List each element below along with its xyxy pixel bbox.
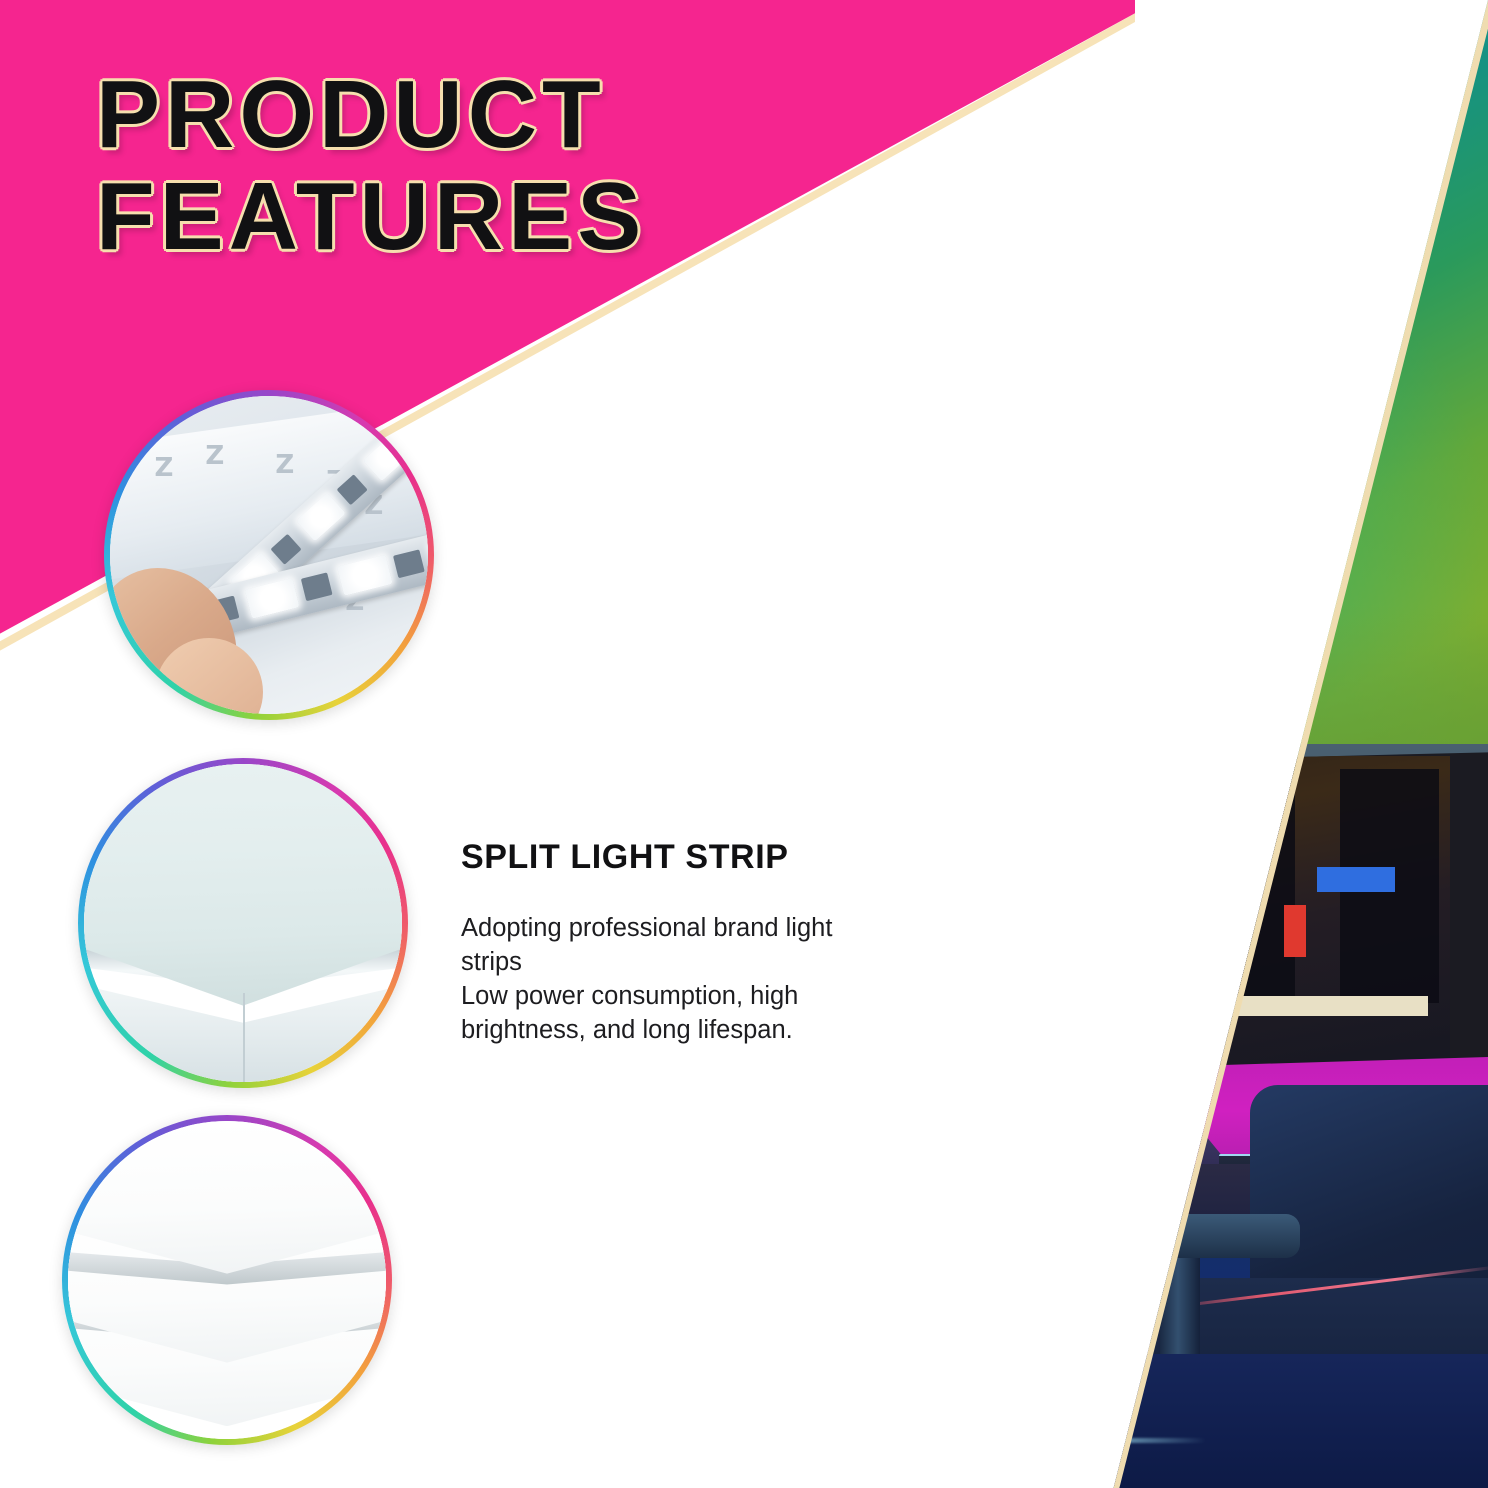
monitor-screen [899, 756, 1449, 1080]
page-title-line-2: FEATURES [96, 166, 856, 268]
led-desk-clock: 12:40 [906, 1095, 996, 1169]
led-infinity-tunnel-light [848, 168, 1307, 646]
feature-text-split-light-strip: SPLIT LIGHT STRIP Adopting professional … [461, 838, 891, 1048]
feature-body-line: Low power consumption, high [461, 979, 891, 1013]
feature-body-line: brightness, and long lifespan. [461, 1013, 891, 1047]
page-title: PRODUCT FEATURES [96, 64, 856, 268]
acrylic-base-plate-photo [62, 1115, 392, 1445]
page-title-line-1: PRODUCT [96, 64, 856, 166]
clock-time: 12:40 [922, 1121, 979, 1143]
feature-body: Adopting professional brand light strips… [461, 911, 891, 1048]
stainless-steel-plate-photo [78, 758, 408, 1088]
led-strip-photo: Z Z Z Z Z Z [104, 390, 434, 720]
showcase-photo-panel: 12:40 [848, 0, 1488, 1488]
infographic-canvas: 12:40 PRODUCT FEATURES [0, 0, 1488, 1488]
under-desk-led-glow [848, 1438, 1206, 1443]
feature-heading: SPLIT LIGHT STRIP [461, 838, 891, 877]
feature-body-line: strips [461, 945, 891, 979]
chair-armrest [1090, 1214, 1300, 1258]
feature-body-line: Adopting professional brand light [461, 911, 891, 945]
